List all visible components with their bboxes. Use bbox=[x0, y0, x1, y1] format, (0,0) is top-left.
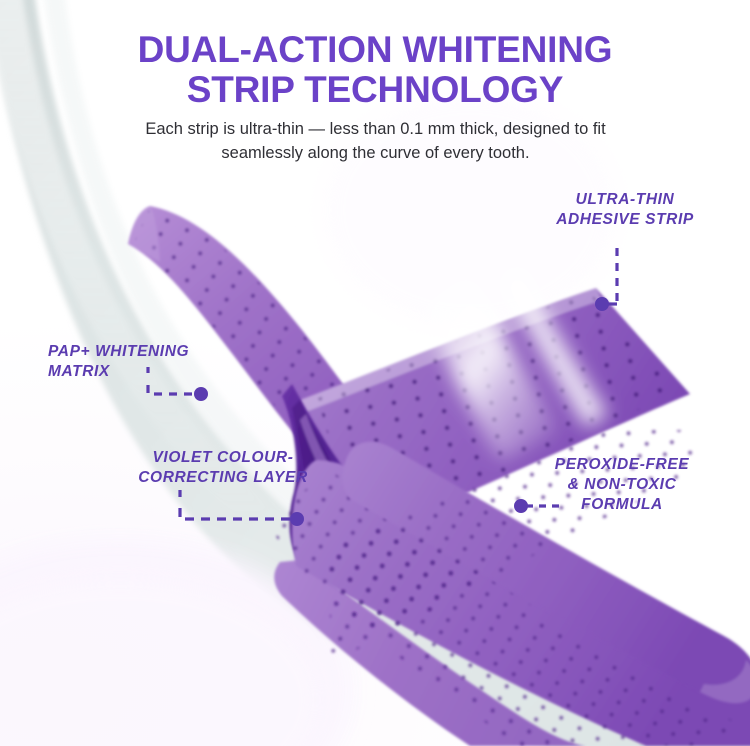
leader-dot-pap-plus bbox=[194, 387, 208, 401]
callout-label-peroxide-free-non-toxic-formula: PEROXIDE-FREE & NON-TOXIC FORMULA bbox=[512, 455, 732, 514]
leader-dot-violet-layer bbox=[290, 512, 304, 526]
leader-ultra-thin bbox=[606, 248, 617, 304]
callout-label-ultra-thin-adhesive-strip: ULTRA-THIN ADHESIVE STRIP bbox=[520, 190, 730, 230]
page-title: DUAL-ACTION WHITENING STRIP TECHNOLOGY bbox=[0, 30, 750, 109]
page-subtitle: Each strip is ultra-thin — less than 0.1… bbox=[88, 118, 663, 166]
leader-violet-layer bbox=[180, 490, 292, 519]
infographic-canvas: DUAL-ACTION WHITENING STRIP TECHNOLOGY E… bbox=[0, 0, 750, 746]
callout-label-violet-colour-correcting-layer: VIOLET COLOUR- CORRECTING LAYER bbox=[98, 448, 348, 488]
leader-dot-ultra-thin bbox=[595, 297, 609, 311]
callout-label-pap-plus-whitening-matrix: PAP+ WHITENING MATRIX bbox=[48, 342, 268, 382]
